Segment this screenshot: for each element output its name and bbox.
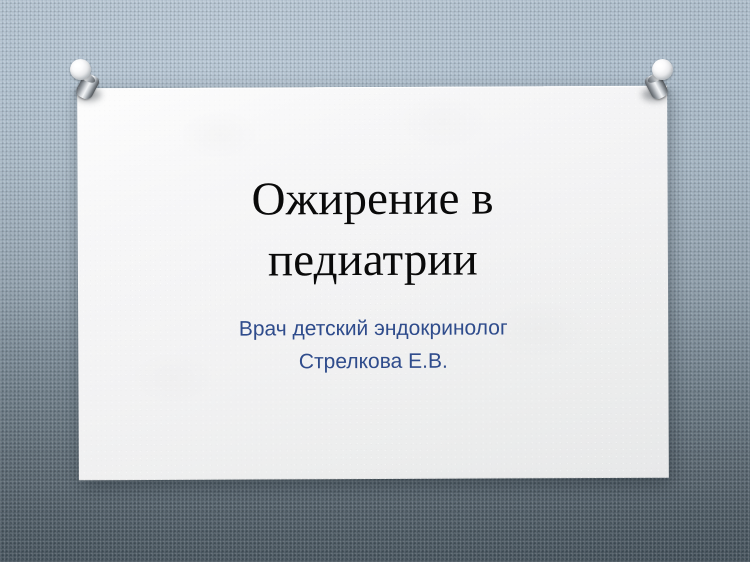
pushpin-left-head [70,59,91,80]
presentation-slide: Ожирение в педиатрии Врач детский эндокр… [0,0,750,562]
pushpin-right-head [652,59,673,80]
pushpin-right-highlight [656,63,663,68]
slide-subtitle-line-1: Врач детский эндокринолог [239,313,508,347]
slide-content: Ожирение в педиатрии Врач детский эндокр… [77,86,669,481]
pushpin-left-highlight [74,63,81,68]
slide-title: Ожирение в педиатрии [251,168,494,291]
paper-card: Ожирение в педиатрии Врач детский эндокр… [77,86,669,481]
slide-subtitle: Врач детский эндокринолог Стрелкова Е.В. [239,313,508,379]
pushpin-left-icon [62,57,108,107]
slide-title-line-2: педиатрии [268,234,478,287]
slide-title-line-1: Ожирение в [251,172,493,225]
paper-surface: Ожирение в педиатрии Врач детский эндокр… [77,86,669,481]
pushpin-right-icon [636,57,682,107]
slide-subtitle-line-2: Стрелкова Е.В. [239,345,508,379]
